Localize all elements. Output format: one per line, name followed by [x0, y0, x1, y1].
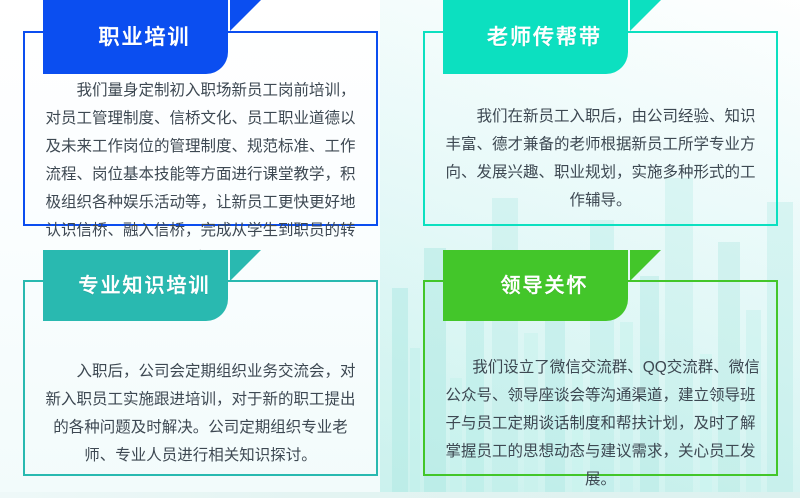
card-body-text: 我们设立了微信交流群、QQ交流群、微信公众号、领导座谈会等沟通渠道，建立领导班子… [441, 354, 760, 494]
card-cell-vocational-training: 职业培训 我们量身定制初入职场新员工岗前培训，对员工管理制度、信桥文化、员工职业… [0, 0, 400, 250]
folded-corner-icon [630, 250, 661, 281]
card-cell-leadership-care: 领导关怀 我们设立了微信交流群、QQ交流群、微信公众号、领导座谈会等沟通渠道，建… [400, 250, 800, 498]
folded-corner-icon [230, 0, 261, 31]
folded-corner-icon [630, 0, 661, 31]
card-cell-professional-knowledge-training: 专业知识培训 入职后，公司会定期组织业务交流会，对新入职员工实施跟进培训，对于新… [0, 250, 400, 498]
card-tab-label: 职业培训 [99, 27, 191, 48]
info-card-mentorship[interactable]: 老师传帮带 我们在新员工入职后，由公司经验、知识丰富、德才兼备的老师根据新员工所… [423, 31, 778, 226]
card-body-text: 我们在新员工入职后，由公司经验、知识丰富、德才兼备的老师根据新员工所学专业方向、… [441, 103, 760, 215]
info-card-vocational-training[interactable]: 职业培训 我们量身定制初入职场新员工岗前培训，对员工管理制度、信桥文化、员工职业… [23, 31, 378, 226]
card-tab-label: 老师传帮带 [487, 27, 602, 48]
card-tab-header[interactable]: 领导关怀 [443, 250, 659, 321]
card-tab-shape[interactable]: 老师传帮带 [443, 0, 628, 74]
info-card-professional-knowledge-training[interactable]: 专业知识培训 入职后，公司会定期组织业务交流会，对新入职员工实施跟进培训，对于新… [23, 280, 378, 476]
info-card-leadership-care[interactable]: 领导关怀 我们设立了微信交流群、QQ交流群、微信公众号、领导座谈会等沟通渠道，建… [423, 280, 778, 476]
card-tab-header[interactable]: 职业培训 [43, 0, 259, 74]
card-cell-mentorship: 老师传帮带 我们在新员工入职后，由公司经验、知识丰富、德才兼备的老师根据新员工所… [400, 0, 800, 250]
card-grid: 职业培训 我们量身定制初入职场新员工岗前培训，对员工管理制度、信桥文化、员工职业… [0, 0, 800, 498]
card-body-text: 我们量身定制初入职场新员工岗前培训，对员工管理制度、信桥文化、员工职业道德以及未… [41, 77, 360, 273]
card-tab-shape[interactable]: 职业培训 [43, 0, 228, 74]
card-tab-shape[interactable]: 专业知识培训 [43, 250, 228, 321]
card-tab-shape[interactable]: 领导关怀 [443, 250, 628, 321]
card-body-text: 入职后，公司会定期组织业务交流会，对新入职员工实施跟进培训，对于新的职工提出的各… [41, 358, 360, 470]
card-tab-header[interactable]: 老师传帮带 [443, 0, 659, 74]
card-tab-label: 领导关怀 [501, 276, 589, 296]
card-tab-label: 专业知识培训 [79, 276, 211, 296]
card-tab-header[interactable]: 专业知识培训 [43, 250, 259, 321]
folded-corner-icon [230, 250, 261, 281]
